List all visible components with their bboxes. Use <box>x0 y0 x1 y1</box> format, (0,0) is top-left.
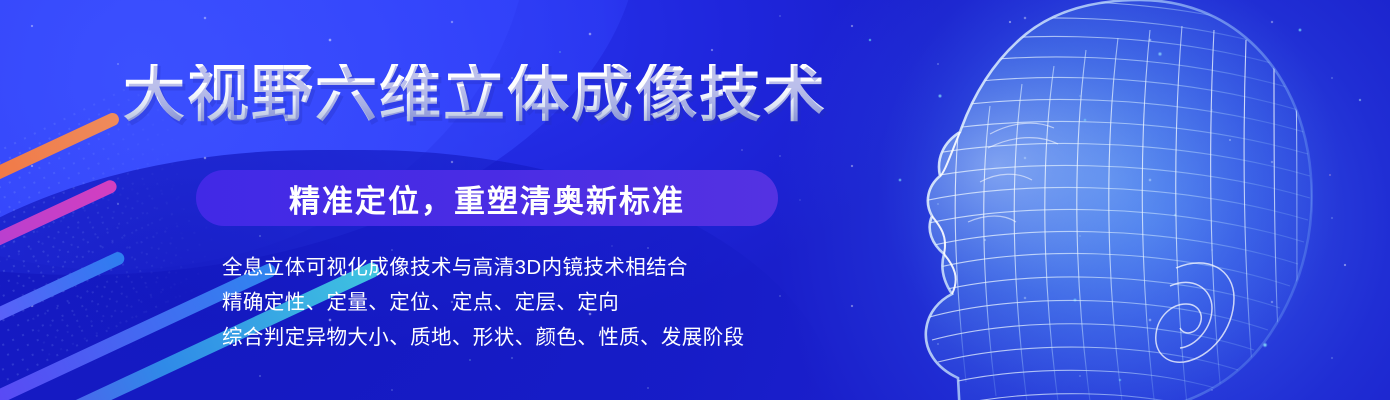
description-line-3: 综合判定异物大小、质地、形状、颜色、性质、发展阶段 <box>222 320 822 355</box>
subtitle-text: 精准定位，重塑清奥新标准 <box>289 176 685 221</box>
subtitle-pill: 精准定位，重塑清奥新标准 <box>196 170 778 226</box>
page-title: 大视野六维立体成像技术 <box>123 64 827 126</box>
banner-text-block: 大视野六维立体成像技术 精准定位，重塑清奥新标准 全息立体可视化成像技术与高清3… <box>0 0 900 400</box>
promo-banner: 大视野六维立体成像技术 精准定位，重塑清奥新标准 全息立体可视化成像技术与高清3… <box>0 0 1390 400</box>
description-line-2: 精确定性、定量、定位、定点、定层、定向 <box>222 285 822 320</box>
head-halo-glow <box>870 0 1350 400</box>
description-list: 全息立体可视化成像技术与高清3D内镜技术相结合 精确定性、定量、定位、定点、定层… <box>222 250 822 355</box>
description-line-1: 全息立体可视化成像技术与高清3D内镜技术相结合 <box>222 250 822 285</box>
